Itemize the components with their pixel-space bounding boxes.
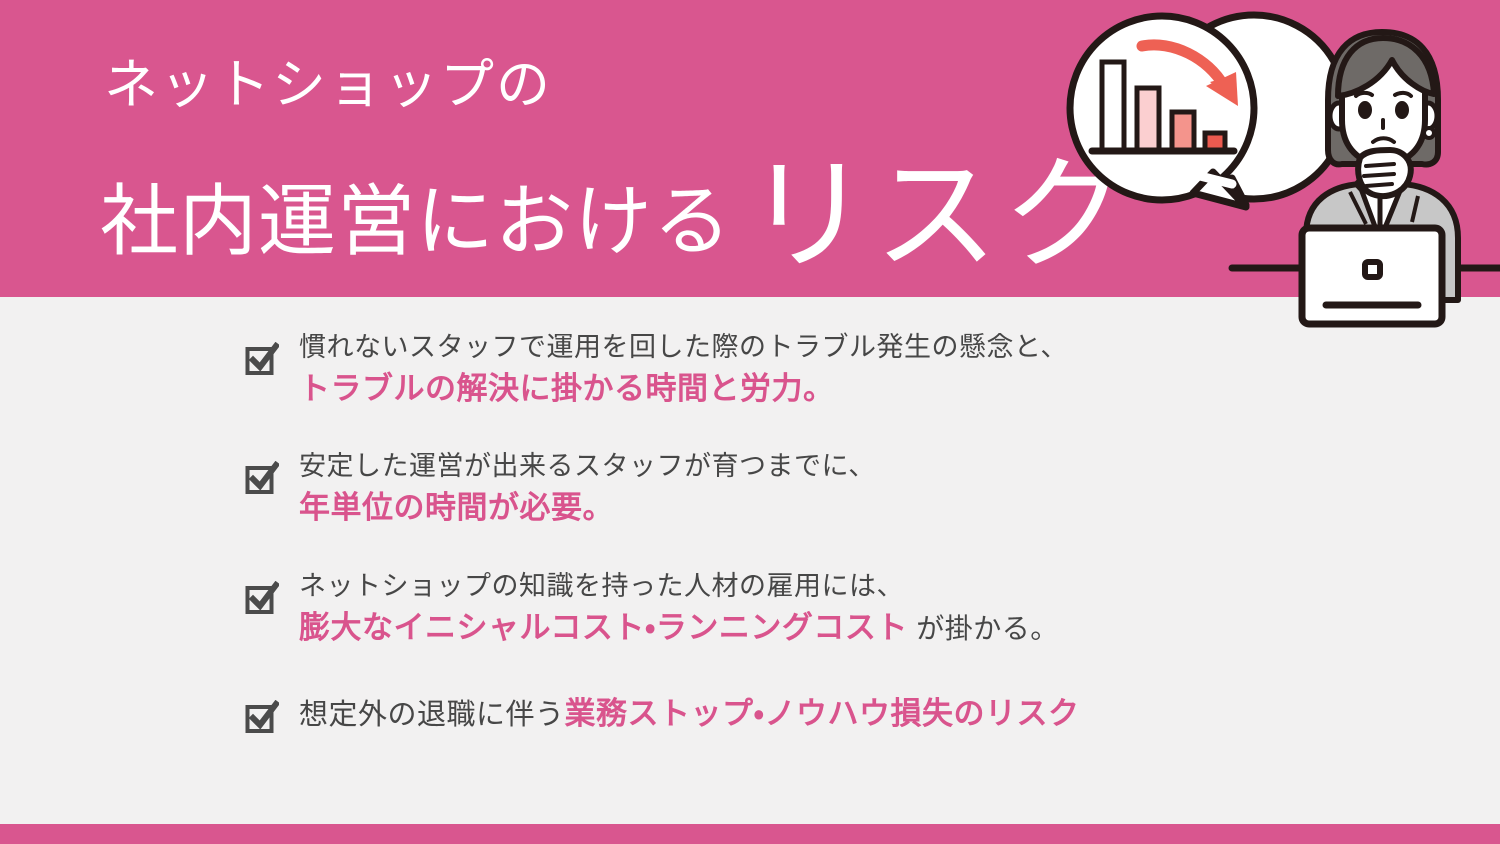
list-item-line1: 想定外の退職に伴う業務ストップ・ノウハウ損失のリスク [299, 688, 1425, 735]
list-item: 想定外の退職に伴う業務ストップ・ノウハウ損失のリスク [245, 688, 1425, 736]
header-band: ネットショップの 社内運営における リスク [0, 0, 1500, 297]
checkbox-checked-icon [245, 569, 299, 615]
list-item-prefix: 想定外の退職に伴う [299, 699, 565, 731]
list-item-text: 慣れないスタッフで運用を回した際のトラブル発生の懸念と、 トラブルの解決に掛かる… [299, 330, 1425, 409]
list-item-line2-highlight: 膨大なイニシャルコスト・ランニングコスト [299, 610, 908, 645]
list-item-highlight: 業務ストップ・ノウハウ損失のリスク [565, 696, 1080, 731]
list-item: 安定した運営が出来るスタッフが育つまでに、 年単位の時間が必要。 [245, 449, 1425, 528]
declining-bar-chart-icon [1092, 62, 1234, 151]
checkbox-checked-icon [245, 330, 299, 376]
slide-root: ネットショップの 社内運営における リスク [0, 0, 1500, 844]
header-text-block: ネットショップの 社内運営における リスク [100, 36, 1100, 276]
list-item: ネットショップの知識を持った人材の雇用には、 膨大なイニシャルコスト・ランニング… [245, 569, 1425, 648]
risk-list: 慣れないスタッフで運用を回した際のトラブル発生の懸念と、 トラブルの解決に掛かる… [245, 330, 1425, 776]
downward-trend-arrow-icon [1142, 45, 1238, 106]
list-item-text: ネットショップの知識を持った人材の雇用には、 膨大なイニシャルコスト・ランニング… [299, 569, 1425, 648]
list-item-line1: ネットショップの知識を持った人材の雇用には、 [299, 569, 1425, 604]
checkbox-checked-icon [245, 449, 299, 495]
list-item-line2: 年単位の時間が必要。 [299, 488, 1425, 528]
list-item-line1: 安定した運営が出来るスタッフが育つまでに、 [299, 449, 1425, 484]
header-title-row: 社内運営における リスク [100, 144, 1130, 268]
list-item-line2-tail: が掛かる。 [908, 613, 1059, 644]
list-item-line2-highlight: トラブルの解決に掛かる時間と労力。 [299, 371, 835, 406]
list-item-text: 安定した運営が出来るスタッフが育つまでに、 年単位の時間が必要。 [299, 449, 1425, 528]
laptop-icon [1302, 228, 1442, 324]
header-subtitle: ネットショップの [104, 58, 552, 112]
header-title-main: 社内運営における [100, 182, 732, 260]
list-item-line2: トラブルの解決に掛かる時間と労力。 [299, 369, 1425, 409]
list-item: 慣れないスタッフで運用を回した際のトラブル発生の懸念と、 トラブルの解決に掛かる… [245, 330, 1425, 409]
list-item-line2-highlight: 年単位の時間が必要。 [299, 490, 614, 525]
list-item-line1: 慣れないスタッフで運用を回した際のトラブル発生の懸念と、 [299, 330, 1425, 365]
header-title-emphasis: リスク [746, 154, 1130, 278]
footer-band [0, 824, 1500, 844]
list-item-text: 想定外の退職に伴う業務ストップ・ノウハウ損失のリスク [299, 688, 1425, 735]
list-item-line2: 膨大なイニシャルコスト・ランニングコスト が掛かる。 [299, 608, 1425, 648]
checkbox-checked-icon [245, 688, 299, 734]
worried-woman-illustration [1232, 32, 1500, 324]
